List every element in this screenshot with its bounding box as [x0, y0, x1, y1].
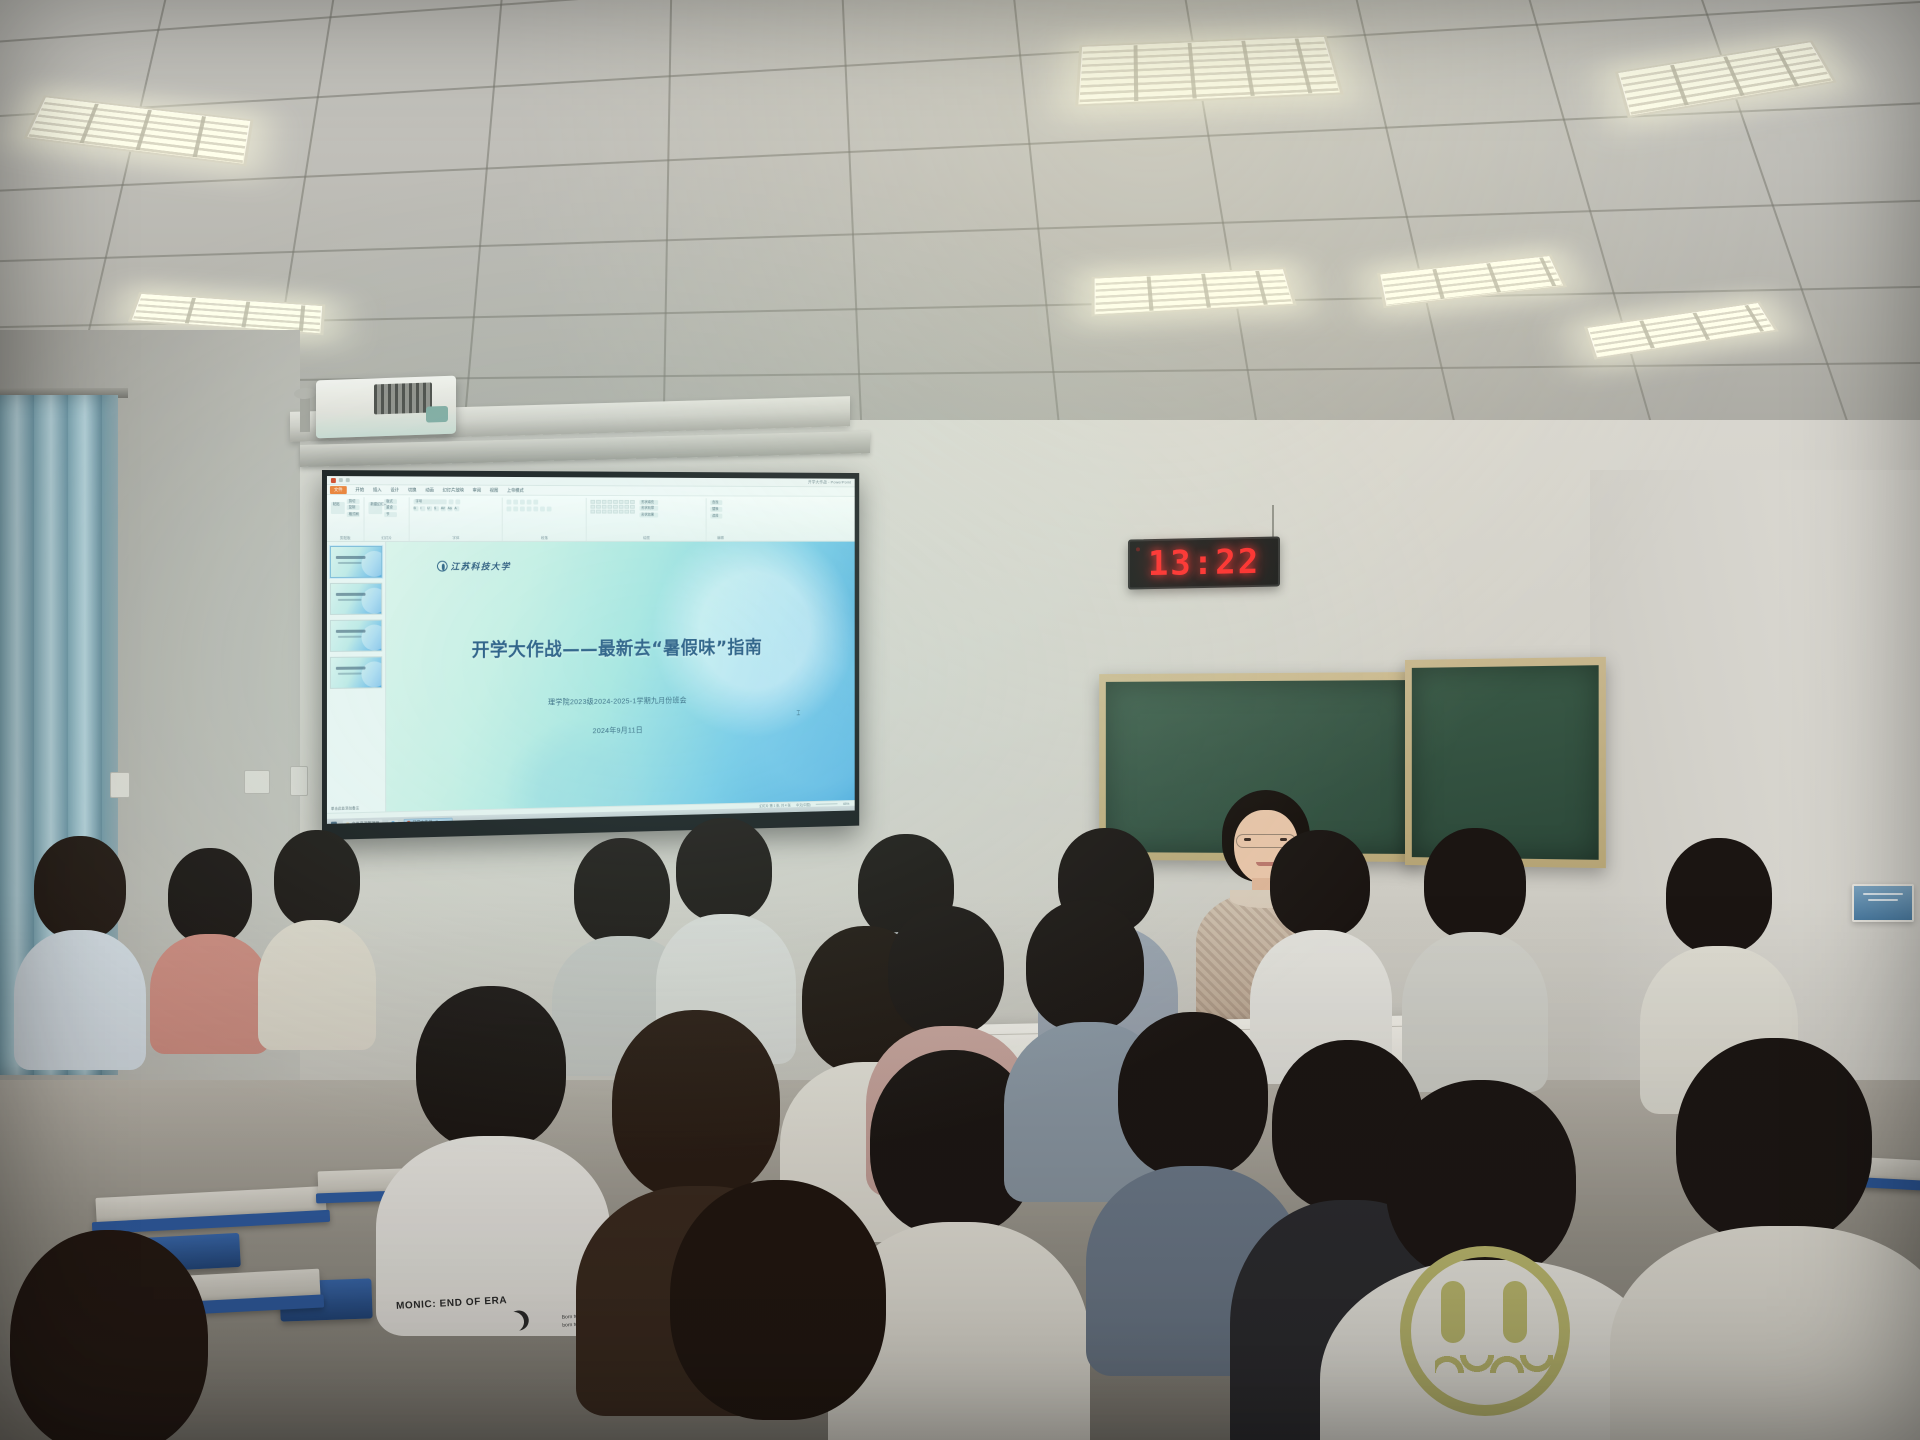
thumbnail-decor [362, 661, 383, 687]
student-torso [14, 930, 146, 1070]
student-head [670, 1180, 886, 1420]
thumbnail-decor [362, 551, 383, 577]
student-torso [1610, 1226, 1920, 1440]
font-family-select[interactable]: 字号 [414, 499, 447, 504]
indent-increase-icon[interactable] [527, 500, 532, 505]
powerpoint-window[interactable]: 开学大作战 - PowerPoint 文件 开始 插入 设计 切换 动画 幻灯片… [327, 476, 855, 824]
sprinkler-head-icon [418, 262, 431, 284]
wall-outlet[interactable] [244, 770, 270, 794]
font-size-decrease-icon[interactable] [455, 499, 460, 504]
student-torso [258, 920, 376, 1050]
slide-thumbnail-panel[interactable]: 1 2 3 [327, 542, 386, 813]
bullets-button[interactable] [507, 500, 512, 505]
wall-outlet[interactable] [290, 766, 308, 796]
change-case-button[interactable]: Aa [448, 506, 453, 511]
section-button[interactable]: 节 [384, 512, 397, 517]
taskbar-item-label: 文件资源管理器 [352, 821, 380, 824]
student-torso [150, 934, 270, 1054]
start-button[interactable] [331, 822, 337, 824]
undo-icon[interactable] [339, 478, 343, 482]
sprinkler-head-icon [915, 352, 928, 374]
tab-addin[interactable]: 上帝模式 [507, 487, 524, 493]
select-button[interactable]: 选择 [710, 514, 722, 519]
smiley-eye [1503, 1281, 1527, 1343]
thumbnail-title-line [336, 630, 366, 633]
find-button[interactable]: 查找 [710, 500, 722, 505]
student-head [1666, 838, 1772, 954]
student-head [168, 848, 252, 944]
tab-animation[interactable]: 动画 [425, 487, 434, 493]
student [20, 836, 140, 1056]
redo-icon[interactable] [346, 478, 350, 482]
ribbon-group-font: 字号 B I U S AV Aa A 字体 [410, 497, 503, 541]
clock-time: 13:22 [1148, 542, 1260, 584]
columns-icon[interactable] [533, 507, 538, 512]
student [0, 1230, 240, 1440]
student [1634, 1038, 1920, 1438]
thumbnail-decor [362, 624, 383, 650]
student-head [1424, 828, 1526, 940]
justify-icon[interactable] [527, 507, 532, 512]
student-head [888, 906, 1004, 1036]
student-head [274, 830, 360, 928]
slide-subtitle: 理学院2023级2024-2025-1学期九月份班会 [386, 692, 840, 710]
student-head [10, 1230, 208, 1440]
slide-thumbnail[interactable]: 4 [330, 656, 382, 689]
student [150, 848, 270, 1048]
tab-slideshow[interactable]: 幻灯片放映 [443, 487, 464, 493]
wall-information-sign [1852, 884, 1914, 922]
document-title: 开学大作战 - PowerPoint [808, 479, 851, 485]
language-indicator[interactable]: 中文(中国) [796, 802, 810, 807]
tab-home[interactable]: 开始 [355, 487, 364, 493]
thumbnail-decor [362, 588, 383, 614]
sign-line [1863, 893, 1903, 895]
thumbnail-title-line [336, 666, 366, 669]
university-name: 江苏科技大学 [451, 560, 511, 573]
text-cursor-icon: ⌶ [796, 710, 800, 718]
ribbon-group-label: 剪贴板 [327, 536, 364, 541]
student-head [574, 838, 670, 946]
browser-icon [391, 821, 395, 824]
taskbar-item-explorer[interactable]: 文件资源管理器 [343, 819, 382, 823]
slide-thumbnail[interactable]: 3 [330, 620, 382, 652]
tab-design[interactable]: 设计 [390, 487, 399, 493]
university-logo: 江苏科技大学 [437, 560, 511, 573]
sign-line [1868, 899, 1898, 901]
folder-icon [346, 822, 350, 824]
thumbnail-sub-line [338, 673, 362, 675]
taskbar-item-browser[interactable] [388, 820, 398, 824]
slide-date: 2024年9月11日 [386, 721, 840, 740]
thumbnail-sub-line [338, 636, 362, 638]
cut-button[interactable]: 剪切 [347, 499, 360, 504]
tab-view[interactable]: 视图 [490, 487, 498, 493]
shape-effects-button[interactable]: 形状效果 [639, 512, 658, 517]
strikethrough-button[interactable]: S [434, 506, 439, 511]
new-slide-button[interactable]: 新建幻灯片 [368, 502, 382, 514]
classroom-scene: 开学大作战 - PowerPoint 文件 开始 插入 设计 切换 动画 幻灯片… [0, 0, 1920, 1440]
text-direction-icon[interactable] [540, 507, 545, 512]
powerpoint-workspace: 1 2 3 [327, 542, 855, 813]
smiley-mouth [1435, 1355, 1553, 1373]
sprinkler-head-icon [905, 68, 918, 90]
tab-transition[interactable]: 切换 [408, 487, 417, 493]
student-head [416, 986, 566, 1150]
tab-insert[interactable]: 插入 [373, 487, 382, 493]
student-head [1270, 830, 1370, 938]
ribbon-group-label: 编辑 [707, 536, 735, 541]
ribbon-group-label: 段落 [503, 536, 586, 541]
save-icon[interactable] [331, 478, 336, 483]
wall-switch-panel[interactable] [110, 772, 130, 798]
reset-button[interactable]: 重设 [384, 506, 397, 511]
smartart-icon[interactable] [547, 507, 552, 512]
zoom-level[interactable]: 65% [843, 802, 849, 806]
ribbon-group-label: 字体 [410, 536, 502, 541]
projector-vent [374, 382, 432, 414]
align-left-icon[interactable] [507, 506, 512, 511]
digital-wall-clock: 13:22 [1128, 536, 1280, 589]
ribbon-group-clipboard: 粘贴 剪切 复制 格式刷 剪贴板 [327, 497, 365, 541]
shape-outline-button[interactable]: 形状轮廓 [639, 506, 658, 511]
student-head [676, 818, 772, 922]
powerpoint-icon [407, 821, 411, 824]
align-center-icon[interactable] [513, 506, 518, 511]
student-head [34, 836, 126, 940]
format-painter-button[interactable]: 格式刷 [347, 512, 360, 517]
font-size-increase-icon[interactable] [449, 499, 454, 504]
student [258, 830, 376, 1040]
ceiling-light-fixture [1075, 35, 1344, 106]
student-head [1676, 1038, 1872, 1244]
projector-lens-icon [426, 406, 448, 423]
thumbnail-sub-line [338, 562, 362, 564]
replace-button[interactable]: 替换 [710, 507, 722, 512]
ribbon-group-editing: 查找 替换 选择 编辑 [707, 498, 735, 541]
bold-button[interactable]: B [414, 506, 419, 511]
font-color-button[interactable]: A [454, 506, 459, 511]
slide-thumbnail[interactable]: 2 [330, 583, 382, 615]
underline-button[interactable]: U [427, 506, 432, 511]
indent-decrease-icon[interactable] [520, 500, 525, 505]
align-right-icon[interactable] [520, 506, 525, 511]
slide-title: 开学大作战——最新去“暑假味”指南 [386, 633, 842, 663]
student-head [612, 1010, 780, 1200]
ribbon-group-paragraph: 段落 [503, 498, 587, 541]
char-spacing-button[interactable]: AV [441, 506, 446, 511]
thumbnail-title-line [336, 556, 366, 559]
slide-thumbnail[interactable]: 1 [330, 546, 382, 578]
clock-indicator-led-icon [1136, 547, 1140, 551]
numbering-button[interactable] [513, 500, 518, 505]
italic-button[interactable]: I [420, 506, 425, 511]
projection-screen[interactable]: 开学大作战 - PowerPoint 文件 开始 插入 设计 切换 动画 幻灯片… [322, 470, 859, 840]
layout-button[interactable]: 版式 [384, 499, 397, 504]
notes-placeholder[interactable]: 单击此处添加备注 [331, 805, 359, 811]
projector-ceiling-mount [300, 396, 310, 432]
copy-button[interactable]: 复制 [347, 505, 360, 510]
university-seal-icon [437, 561, 448, 572]
paste-button[interactable]: 粘贴 [331, 502, 345, 514]
ribbon-group-drawing: 形状填充 形状轮廓 形状效果 绘图 [587, 498, 707, 541]
taskbar-item-powerpoint[interactable]: 开学大作战 - Powe… [404, 818, 452, 824]
taskbar-item-label: 开学大作战 - Powe… [413, 819, 450, 824]
thumbnail-sub-line [338, 599, 362, 601]
student [630, 1180, 930, 1440]
tab-file[interactable]: 文件 [330, 486, 347, 494]
thumbnail-title-line [336, 593, 366, 596]
ribbon-group-slides: 新建幻灯片 版式 重设 节 幻灯片 [365, 497, 410, 541]
zoom-slider[interactable] [816, 803, 838, 804]
active-slide[interactable]: 江苏科技大学 开学大作战——最新去“暑假味”指南 理学院2023级2024-20… [386, 542, 855, 812]
slide-indicator: 幻灯片 第 1 张, 共 4 张 [759, 803, 790, 809]
shape-fill-button[interactable]: 形状填充 [639, 500, 658, 505]
shape-gallery[interactable] [590, 500, 634, 514]
ceiling-projector [316, 376, 456, 439]
ribbon-group-label: 绘图 [587, 536, 706, 541]
smiley-eye [1441, 1281, 1465, 1343]
line-spacing-button[interactable] [533, 500, 538, 505]
ribbon-group-label: 幻灯片 [365, 536, 409, 541]
ribbon-body[interactable]: 粘贴 剪切 复制 格式刷 剪贴板 新建幻灯片 版式 重设 [327, 495, 855, 542]
smiley-face-icon [1400, 1246, 1570, 1416]
student [394, 986, 590, 1286]
tab-review[interactable]: 审阅 [473, 487, 481, 493]
